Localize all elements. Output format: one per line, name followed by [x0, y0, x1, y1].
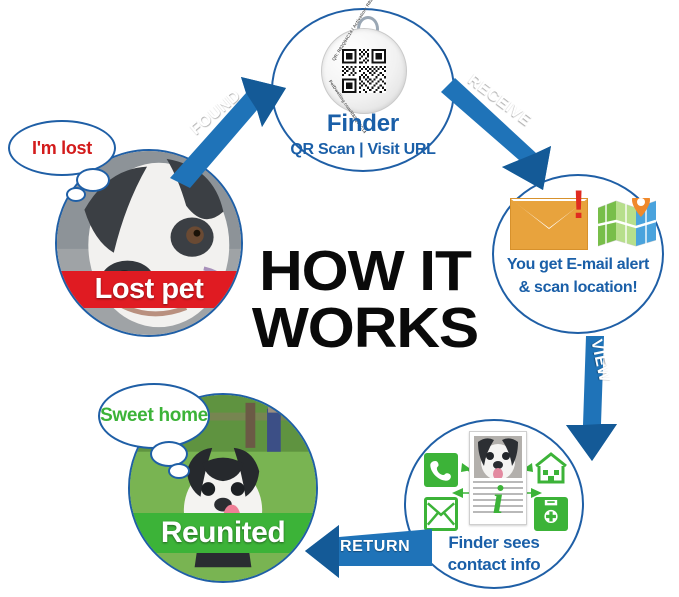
arrow-label-return: RETURN	[340, 538, 410, 556]
flow-arrows	[0, 0, 679, 597]
how-it-works-infographic: FOUND RECEIVE VIEW RETURN HOW IT WORKS L…	[0, 0, 679, 597]
